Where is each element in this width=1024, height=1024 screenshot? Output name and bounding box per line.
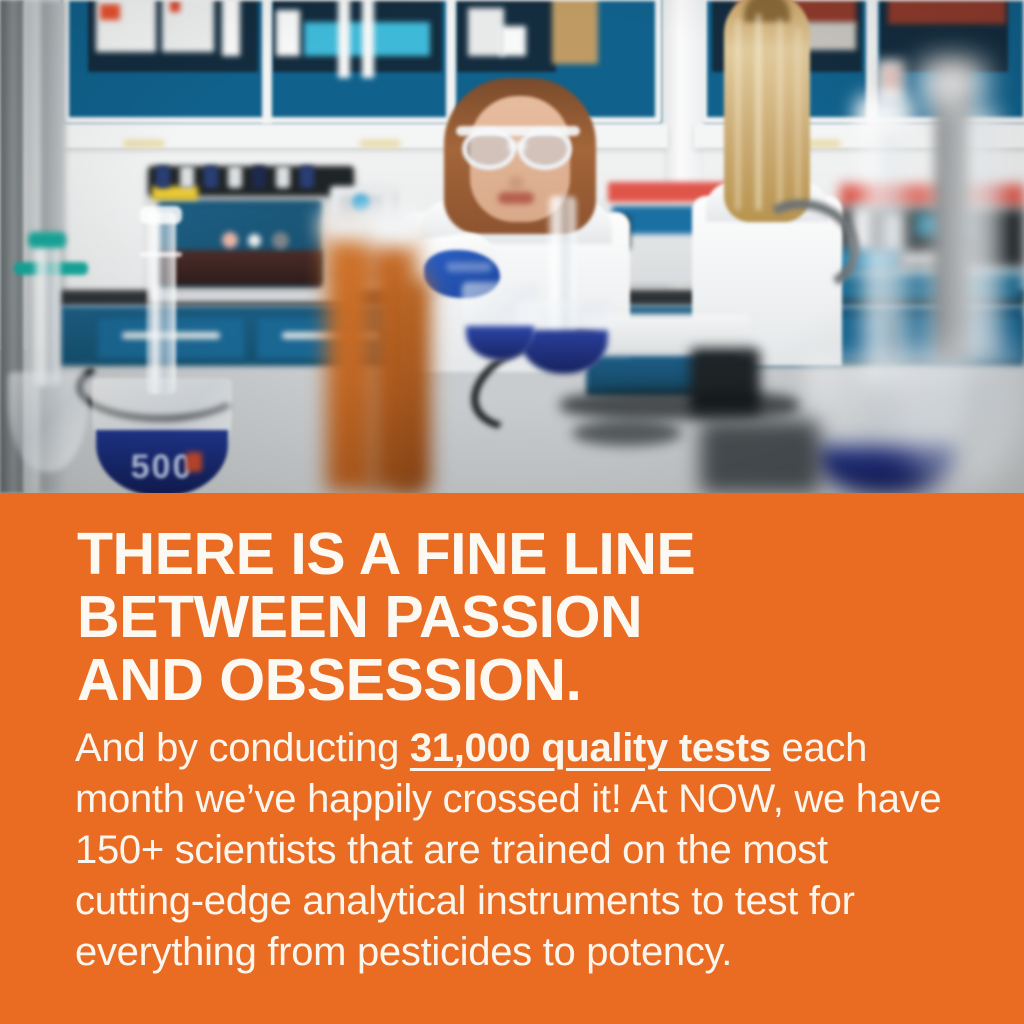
flask-neck (960, 110, 1000, 360)
orange-text-panel: THERE IS A FINE LINE BETWEEN PASSION AND… (0, 493, 1024, 1024)
instrument-button (222, 232, 238, 248)
lab-photo: 500 (0, 0, 1024, 493)
flask-stopper (140, 206, 182, 224)
cabinet-mullion (446, 0, 456, 124)
vial (300, 166, 314, 188)
hair-strand (756, 14, 761, 210)
outlet-indicator (894, 82, 900, 88)
petri-dish (572, 420, 682, 446)
flask-volume-label: 500 (96, 448, 228, 487)
flask-cap-teal (28, 232, 66, 248)
glove-highlight (446, 262, 492, 272)
flask-stopper (920, 62, 984, 100)
flask-neck (34, 236, 60, 386)
vial (180, 166, 194, 188)
hair-strand (796, 28, 800, 204)
quality-tests-highlight: 31,000 quality tests (410, 726, 771, 770)
hair-strand (778, 18, 782, 210)
vial (252, 166, 266, 188)
amber-reagent-column (326, 224, 376, 492)
valance-tape (124, 140, 164, 147)
goggles-bridge (508, 142, 526, 150)
valance-tape (360, 140, 400, 147)
flask-graduation (140, 252, 182, 257)
social-media-card: 500 THERE IS A FINE LINE BETWEEN P (0, 0, 1024, 1024)
amber-reagent-column (396, 280, 430, 492)
outlet-indicator (884, 70, 890, 76)
cabinet-mullion (262, 0, 272, 124)
counter-equipment (700, 420, 820, 493)
instrument-panel (158, 250, 322, 286)
page-title: THERE IS A FINE LINE BETWEEN PASSION AND… (77, 523, 977, 712)
vial (276, 166, 290, 188)
hair-crown-right (744, 0, 790, 22)
flask-stopper (856, 96, 912, 130)
instrument-button (248, 234, 261, 247)
flask-neck-500 (146, 212, 176, 394)
body-text-before: And by conducting (75, 726, 410, 770)
instrument-knob (272, 232, 289, 249)
vial (228, 166, 242, 188)
amber-column-cap (364, 206, 424, 246)
outlet-indicator (894, 70, 900, 76)
headline-line-2: BETWEEN PASSION (77, 586, 977, 649)
vial (204, 166, 218, 188)
vial (156, 166, 170, 188)
flask-tag (186, 452, 202, 472)
outlet-indicator (884, 82, 890, 88)
mouth (498, 192, 534, 204)
flask-neck (862, 104, 906, 384)
instrument-label (152, 186, 198, 200)
headline-line-1: THERE IS A FINE LINE (77, 523, 977, 586)
goggles-strap (456, 126, 580, 136)
hair-strand (736, 20, 740, 210)
body-paragraph: And by conducting 31,000 quality tests e… (75, 723, 955, 978)
nose (508, 176, 524, 190)
headline-line-3: AND OBSESSION. (77, 649, 977, 712)
